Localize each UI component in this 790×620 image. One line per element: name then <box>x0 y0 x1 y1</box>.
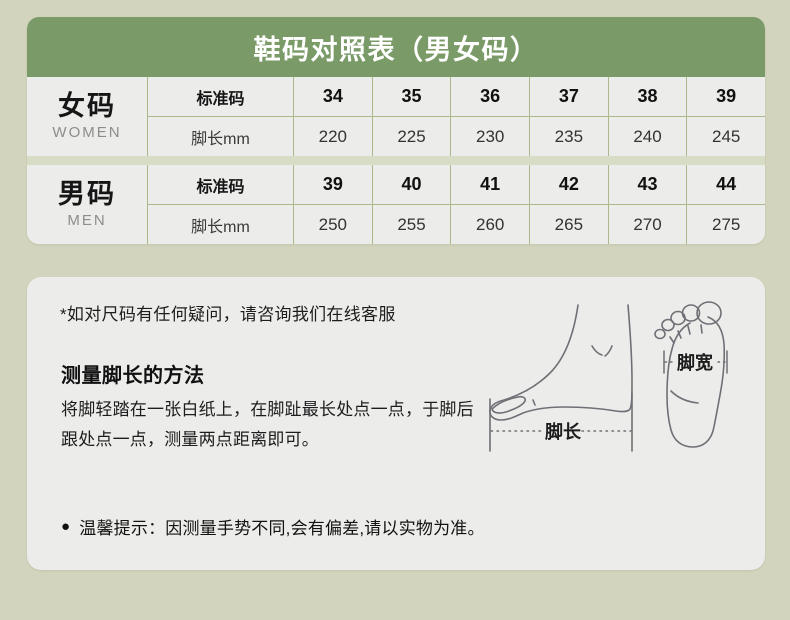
foot-length-label: 脚长 <box>545 422 582 442</box>
cells-footlength-women: 220 225 230 235 240 245 <box>294 117 765 156</box>
size-grid-women: 标准码 34 35 36 37 38 39 脚长mm 220 225 <box>147 77 765 156</box>
foot-side-profile-icon <box>490 305 632 420</box>
foot-diagram-svg: 脚长 <box>482 299 757 484</box>
cell-footlength-women-2: 230 <box>451 117 530 156</box>
cell-footlength-women-4: 240 <box>609 117 688 156</box>
size-table-header: 鞋码对照表（男女码） <box>27 17 765 77</box>
cell-footlength-men-2: 260 <box>451 205 530 244</box>
row-label-standard-women: 标准码 <box>148 77 294 116</box>
cell-standard-women-0: 34 <box>294 77 373 116</box>
row-label-footlength-women: 脚长mm <box>148 117 294 156</box>
block-label-men: 男码 MEN <box>27 165 147 244</box>
table-row: 标准码 34 35 36 37 38 39 <box>148 77 765 117</box>
cell-footlength-women-5: 245 <box>687 117 765 156</box>
foot-width-label: 脚宽 <box>677 352 713 373</box>
cell-standard-men-1: 40 <box>373 165 452 204</box>
cells-standard-men: 39 40 41 42 43 44 <box>294 165 765 204</box>
foot-sole-print-icon <box>655 302 724 447</box>
cell-footlength-men-3: 265 <box>530 205 609 244</box>
size-question-note: *如对尺码有任何疑问，请咨询我们在线客服 <box>60 300 396 325</box>
warm-tip: ● 温馨提示：因测量手势不同,会有偏差,请以实物为准。 <box>61 514 485 539</box>
cell-standard-women-5: 39 <box>687 77 765 116</box>
cells-standard-women: 34 35 36 37 38 39 <box>294 77 765 116</box>
cell-standard-men-0: 39 <box>294 165 373 204</box>
block-label-women-en: WOMEN <box>52 124 121 141</box>
cell-standard-women-4: 38 <box>609 77 688 116</box>
cell-footlength-women-1: 225 <box>373 117 452 156</box>
cell-footlength-women-3: 235 <box>530 117 609 156</box>
method-body-text: 将脚轻踏在一张白纸上，在脚趾最长处点一点，于脚后跟处点一点，测量两点距离即可。 <box>61 395 481 455</box>
size-block-women: 女码 WOMEN 标准码 34 35 36 37 38 39 脚长mm <box>27 77 765 156</box>
cell-standard-women-3: 37 <box>530 77 609 116</box>
cell-footlength-men-0: 250 <box>294 205 373 244</box>
warm-tip-text: 温馨提示：因测量手势不同,会有偏差,请以实物为准。 <box>79 514 484 539</box>
size-grid-men: 标准码 39 40 41 42 43 44 脚长mm 250 255 <box>147 165 765 244</box>
method-title: 测量脚长的方法 <box>61 359 205 388</box>
size-table-card: 鞋码对照表（男女码） 女码 WOMEN 标准码 34 35 36 37 38 3… <box>27 17 765 244</box>
table-row: 标准码 39 40 41 42 43 44 <box>148 165 765 205</box>
cell-standard-women-1: 35 <box>373 77 452 116</box>
cell-footlength-men-5: 275 <box>687 205 765 244</box>
cells-footlength-men: 250 255 260 265 270 275 <box>294 205 765 244</box>
block-label-men-en: MEN <box>67 212 106 229</box>
row-label-standard-men: 标准码 <box>148 165 294 204</box>
table-row: 脚长mm 250 255 260 265 270 275 <box>148 205 765 244</box>
cell-footlength-men-4: 270 <box>609 205 688 244</box>
block-label-men-cn: 男码 <box>58 179 116 210</box>
page-title: 鞋码对照表（男女码） <box>254 28 539 67</box>
cell-standard-women-2: 36 <box>451 77 530 116</box>
cell-footlength-men-1: 255 <box>373 205 452 244</box>
bullet-icon: ● <box>61 519 70 534</box>
row-label-footlength-men: 脚长mm <box>148 205 294 244</box>
foot-measurement-diagram: 脚长 <box>482 299 757 484</box>
cell-standard-men-4: 43 <box>609 165 688 204</box>
block-label-women-cn: 女码 <box>58 91 116 122</box>
size-block-men: 男码 MEN 标准码 39 40 41 42 43 44 脚长mm <box>27 165 765 244</box>
block-divider <box>27 156 765 165</box>
table-row: 脚长mm 220 225 230 235 240 245 <box>148 117 765 156</box>
measurement-info-card: *如对尺码有任何疑问，请咨询我们在线客服 测量脚长的方法 将脚轻踏在一张白纸上，… <box>27 277 765 570</box>
cell-standard-men-3: 42 <box>530 165 609 204</box>
block-label-women: 女码 WOMEN <box>27 77 147 156</box>
cell-standard-men-5: 44 <box>687 165 765 204</box>
size-chart-page: 鞋码对照表（男女码） 女码 WOMEN 标准码 34 35 36 37 38 3… <box>0 0 790 620</box>
cell-standard-men-2: 41 <box>451 165 530 204</box>
cell-footlength-women-0: 220 <box>294 117 373 156</box>
